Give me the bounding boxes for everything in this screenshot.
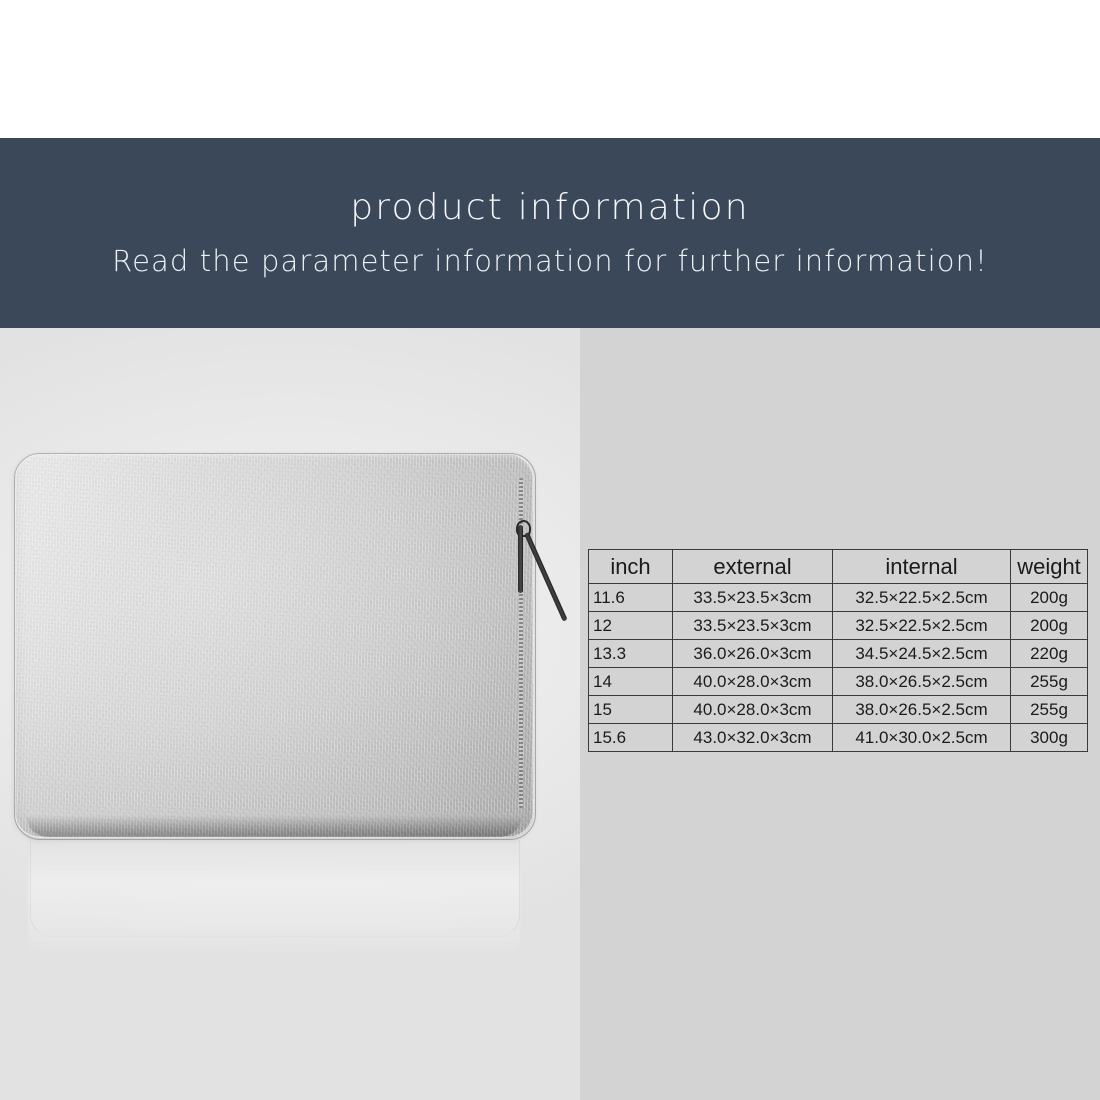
cell-internal: 32.5×22.5×2.5cm <box>833 584 1011 612</box>
table-row: 15.6 43.0×32.0×3cm 41.0×30.0×2.5cm 300g <box>589 724 1088 752</box>
table-row: 12 33.5×23.5×3cm 32.5×22.5×2.5cm 200g <box>589 612 1088 640</box>
cell-inch: 15.6 <box>589 724 673 752</box>
cell-external: 33.5×23.5×3cm <box>673 612 833 640</box>
cell-weight: 255g <box>1011 668 1088 696</box>
cell-external: 33.5×23.5×3cm <box>673 584 833 612</box>
cell-internal: 38.0×26.5×2.5cm <box>833 668 1011 696</box>
product-info-page: product information Read the parameter i… <box>0 0 1100 1100</box>
page-title: product information <box>350 188 749 228</box>
table-header-row: inch external internal weight <box>589 550 1088 584</box>
table-row: 13.3 36.0×26.0×3cm 34.5×24.5×2.5cm 220g <box>589 640 1088 668</box>
specification-table: inch external internal weight 11.6 33.5×… <box>588 549 1088 752</box>
cell-weight: 200g <box>1011 584 1088 612</box>
photo-stage <box>0 328 580 1100</box>
cell-weight: 220g <box>1011 640 1088 668</box>
product-reflection-edge <box>30 840 520 937</box>
cell-inch: 11.6 <box>589 584 673 612</box>
cell-external: 36.0×26.0×3cm <box>673 640 833 668</box>
cell-weight: 300g <box>1011 724 1088 752</box>
cell-inch: 14 <box>589 668 673 696</box>
table-row: 15 40.0×28.0×3cm 38.0×26.5×2.5cm 255g <box>589 696 1088 724</box>
column-header-weight: weight <box>1011 550 1088 584</box>
cell-inch: 15 <box>589 696 673 724</box>
spec-table-wrapper: inch external internal weight 11.6 33.5×… <box>588 549 1087 752</box>
cell-internal: 32.5×22.5×2.5cm <box>833 612 1011 640</box>
cell-internal: 34.5×24.5×2.5cm <box>833 640 1011 668</box>
cell-internal: 41.0×30.0×2.5cm <box>833 724 1011 752</box>
cell-internal: 38.0×26.5×2.5cm <box>833 696 1011 724</box>
cell-inch: 13.3 <box>589 640 673 668</box>
column-header-inch: inch <box>589 550 673 584</box>
column-header-internal: internal <box>833 550 1011 584</box>
cell-external: 40.0×28.0×3cm <box>673 696 833 724</box>
column-header-external: external <box>673 550 833 584</box>
page-subtitle: Read the parameter information for furth… <box>112 246 988 278</box>
cell-weight: 200g <box>1011 612 1088 640</box>
top-white-margin <box>0 0 1100 138</box>
zipper-slider-icon <box>518 525 523 593</box>
laptop-sleeve-body <box>14 453 534 838</box>
table-row: 14 40.0×28.0×3cm 38.0×26.5×2.5cm 255g <box>589 668 1088 696</box>
cell-external: 40.0×28.0×3cm <box>673 668 833 696</box>
cell-external: 43.0×32.0×3cm <box>673 724 833 752</box>
cell-weight: 255g <box>1011 696 1088 724</box>
banner: product information Read the parameter i… <box>0 138 1100 328</box>
product-image-panel <box>0 328 580 1100</box>
table-row: 11.6 33.5×23.5×3cm 32.5×22.5×2.5cm 200g <box>589 584 1088 612</box>
cell-inch: 12 <box>589 612 673 640</box>
laptop-sleeve-bottom-edge <box>26 815 522 837</box>
